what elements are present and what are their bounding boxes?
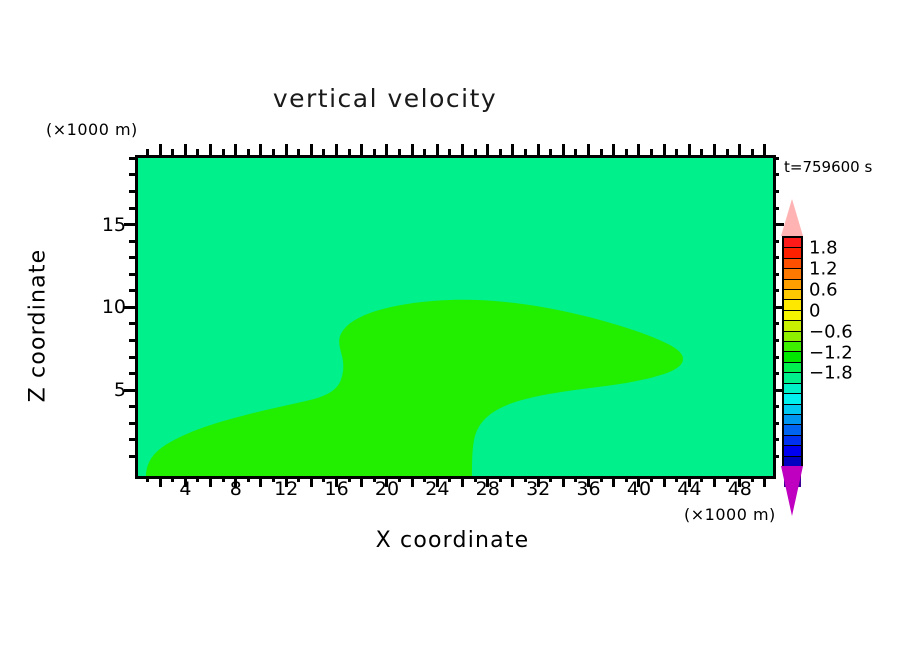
y-axis-tick-right <box>773 223 784 226</box>
y-axis-tick-left <box>129 173 135 176</box>
x-axis-tick-top <box>171 149 174 155</box>
x-axis-tick-top <box>637 144 640 155</box>
colorbar-band <box>784 405 801 414</box>
y-axis-tick-right <box>773 157 779 160</box>
colorbar-tick-label: 0 <box>809 300 820 321</box>
y-axis-tick-right <box>773 190 779 193</box>
colorbar[interactable] <box>782 236 803 466</box>
y-axis-tick-left <box>129 422 135 425</box>
colorbar-band <box>784 352 801 361</box>
x-axis-tick-bottom <box>360 476 363 487</box>
y-axis-tick-right <box>773 438 779 441</box>
x-axis-tick-bottom <box>713 476 716 487</box>
y-axis-tick-right <box>773 356 779 359</box>
x-axis-tick-top <box>247 149 250 155</box>
y-axis-tick-right <box>773 306 784 309</box>
x-axis-tick-top <box>259 144 262 155</box>
y-axis-tick-left <box>129 322 135 325</box>
contour-plot-area <box>135 155 776 479</box>
x-axis-tick-label: 44 <box>677 478 701 500</box>
x-axis-tick-top <box>436 144 439 155</box>
x-axis-tick-bottom <box>222 476 225 482</box>
x-axis-tick-label: 16 <box>324 478 348 500</box>
y-axis-tick-left <box>129 356 135 359</box>
y-axis-tick-right <box>773 256 779 259</box>
y-axis-tick-left <box>129 273 135 276</box>
y-axis-tick-left <box>129 289 135 292</box>
x-axis-title: X coordinate <box>135 528 770 553</box>
x-axis-tick-top <box>751 149 754 155</box>
x-axis-tick-top <box>196 149 199 155</box>
colorbar-tick-label: 0.6 <box>809 280 838 301</box>
x-axis-tick-label: 12 <box>274 478 298 500</box>
y-axis-tick-left <box>129 339 135 342</box>
x-axis-tick-top <box>688 144 691 155</box>
colorbar-band <box>784 363 801 372</box>
y-axis-tick-right <box>773 273 779 276</box>
y-axis-tick-right <box>773 322 779 325</box>
colorbar-band <box>784 384 801 393</box>
x-axis-tick-top <box>159 144 162 155</box>
colorbar-tick-label: −1.2 <box>809 342 853 363</box>
x-axis-tick-label: 8 <box>230 478 242 500</box>
colorbar-band <box>784 436 801 445</box>
colorbar-band <box>784 248 801 257</box>
x-axis-tick-top <box>385 144 388 155</box>
colorbar-band <box>784 373 801 382</box>
x-axis-tick-top <box>373 149 376 155</box>
time-annotation: t=759600 s <box>784 158 872 176</box>
x-axis-tick-top <box>738 144 741 155</box>
x-axis-tick-bottom <box>562 476 565 487</box>
x-axis-tick-top <box>285 144 288 155</box>
y-axis-tick-right <box>773 405 779 408</box>
y-axis-tick-right <box>773 389 784 392</box>
x-axis-tick-label: 40 <box>627 478 651 500</box>
y-axis-tick-right <box>773 339 779 342</box>
x-axis-tick-top <box>763 144 766 155</box>
x-axis-tick-top <box>360 144 363 155</box>
colorbar-tick-label: −0.6 <box>809 321 853 342</box>
x-axis-tick-top <box>184 144 187 155</box>
x-axis-tick-label: 32 <box>526 478 550 500</box>
x-axis-tick-label: 36 <box>576 478 600 500</box>
colorbar-band <box>784 446 801 455</box>
colorbar-band <box>784 259 801 268</box>
x-axis-tick-top <box>461 144 464 155</box>
x-axis-tick-top <box>726 149 729 155</box>
x-axis-tick-top <box>625 149 628 155</box>
x-axis-tick-label: 20 <box>375 478 399 500</box>
x-axis-tick-top <box>146 149 149 155</box>
y-axis-tick-left <box>129 157 135 160</box>
colorbar-band <box>784 280 801 289</box>
x-axis-tick-top <box>335 144 338 155</box>
x-axis-tick-bottom <box>511 476 514 487</box>
x-axis-tick-top <box>499 149 502 155</box>
x-axis-tick-bottom <box>310 476 313 487</box>
x-axis-tick-bottom <box>259 476 262 487</box>
colorbar-band <box>784 300 801 309</box>
y-axis-tick-right <box>773 455 779 458</box>
x-axis-tick-bottom <box>247 476 250 482</box>
x-axis-tick-top <box>209 144 212 155</box>
x-axis-tick-top <box>574 149 577 155</box>
colorbar-band <box>784 321 801 330</box>
x-axis-tick-top <box>524 149 527 155</box>
x-axis-tick-label: 48 <box>728 478 752 500</box>
x-axis-tick-top <box>474 149 477 155</box>
x-axis-tick-bottom <box>159 476 162 487</box>
y-axis-tick-label: 10 <box>86 296 126 318</box>
x-axis-tick-top <box>587 144 590 155</box>
x-axis-tick-top <box>486 144 489 155</box>
x-axis-tick-top <box>549 149 552 155</box>
x-axis-tick-top <box>272 149 275 155</box>
y-axis-tick-right <box>773 422 779 425</box>
x-axis-tick-top <box>700 149 703 155</box>
y-axis-tick-left <box>129 438 135 441</box>
x-axis-tick-top <box>562 144 565 155</box>
x-axis-tick-top <box>511 144 514 155</box>
y-axis-tick-right <box>773 289 779 292</box>
colorbar-cap-bottom-icon <box>781 466 803 516</box>
colorbar-band <box>784 332 801 341</box>
x-axis-tick-top <box>222 149 225 155</box>
x-axis-tick-top <box>675 149 678 155</box>
y-axis-tick-right <box>773 240 779 243</box>
x-axis-tick-top <box>537 144 540 155</box>
colorbar-band <box>784 425 801 434</box>
x-axis-tick-top <box>411 144 414 155</box>
colorbar-band <box>784 457 801 466</box>
colorbar-tick-label: −1.8 <box>809 363 853 384</box>
x-axis-tick-bottom <box>612 476 615 487</box>
x-axis-tick-bottom <box>209 476 212 487</box>
y-axis-title: Z coordinate <box>26 226 51 426</box>
x-axis-tick-bottom <box>411 476 414 487</box>
x-axis-tick-top <box>310 144 313 155</box>
x-axis-tick-top <box>423 149 426 155</box>
x-axis-tick-label: 28 <box>476 478 500 500</box>
x-axis-tick-top <box>398 149 401 155</box>
colorbar-band <box>784 238 801 247</box>
x-axis-tick-label: 24 <box>425 478 449 500</box>
x-axis-tick-bottom <box>663 476 666 487</box>
page-title: vertical velocity <box>0 84 770 113</box>
y-axis-tick-left <box>129 256 135 259</box>
colorbar-tick-label: 1.2 <box>809 259 838 280</box>
x-axis-tick-bottom <box>146 476 149 482</box>
y-axis-tick-left <box>129 240 135 243</box>
y-axis-tick-left <box>129 455 135 458</box>
colorbar-tick-label: 1.8 <box>809 238 838 259</box>
x-axis-tick-top <box>612 144 615 155</box>
colorbar-band <box>784 415 801 424</box>
y-axis-tick-left <box>129 190 135 193</box>
x-axis-tick-top <box>322 149 325 155</box>
x-axis-tick-bottom <box>763 476 766 487</box>
y-axis-tick-label: 15 <box>86 214 126 236</box>
colorbar-band <box>784 342 801 351</box>
colorbar-band <box>784 394 801 403</box>
x-axis-tick-top <box>348 149 351 155</box>
x-axis-tick-top <box>234 144 237 155</box>
x-axis-tick-top <box>600 149 603 155</box>
y-axis-tick-right <box>773 207 779 210</box>
contour-region-group <box>138 158 773 476</box>
x-axis-tick-bottom <box>171 476 174 482</box>
y-axis-tick-right <box>773 372 779 375</box>
y-axis-units-caption: (×1000 m) <box>46 120 138 139</box>
colorbar-band <box>784 269 801 278</box>
y-axis-tick-left <box>129 372 135 375</box>
x-axis-units-caption: (×1000 m) <box>684 505 776 524</box>
y-axis-tick-label: 5 <box>86 379 126 401</box>
x-axis-tick-bottom <box>196 476 199 482</box>
x-axis-tick-top <box>663 144 666 155</box>
x-axis-tick-top <box>713 144 716 155</box>
x-axis-tick-bottom <box>461 476 464 487</box>
y-axis-tick-left <box>129 207 135 210</box>
colorbar-band <box>784 311 801 320</box>
x-axis-tick-label: 4 <box>179 478 191 500</box>
x-axis-tick-top <box>448 149 451 155</box>
colorbar-band <box>784 290 801 299</box>
y-axis-tick-left <box>129 405 135 408</box>
colorbar-cap-top-icon <box>781 199 803 236</box>
x-axis-tick-top <box>297 149 300 155</box>
y-axis-tick-right <box>773 173 779 176</box>
x-axis-tick-top <box>650 149 653 155</box>
